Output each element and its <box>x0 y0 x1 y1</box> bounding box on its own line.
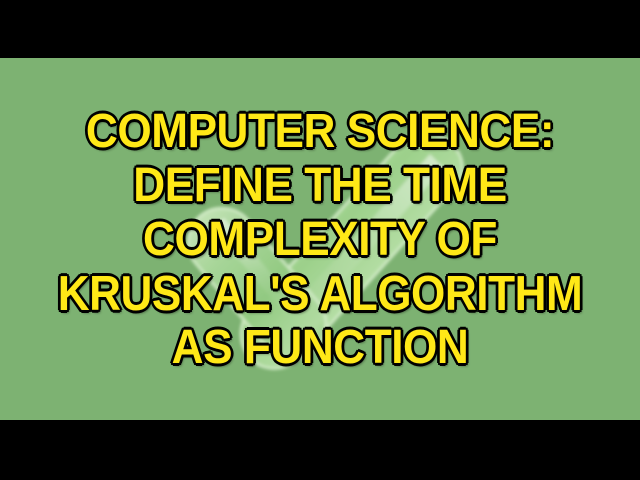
content-band: COMPUTER SCIENCE: DEFINE THE TIME COMPLE… <box>0 58 640 420</box>
headline-line-3: COMPLEXITY OF <box>26 213 615 267</box>
headline-line-4: KRUSKAL'S ALGORITHM <box>32 267 608 321</box>
letterbox-bar-bottom <box>0 420 640 480</box>
headline-line-2: DEFINE THE TIME <box>26 159 615 213</box>
letterbox-bar-top <box>0 0 640 58</box>
headline-block: COMPUTER SCIENCE: DEFINE THE TIME COMPLE… <box>0 58 640 420</box>
thumbnail-canvas: COMPUTER SCIENCE: DEFINE THE TIME COMPLE… <box>0 0 640 480</box>
headline-line-5: AS FUNCTION <box>26 321 615 375</box>
headline-line-1: COMPUTER SCIENCE: <box>26 105 615 159</box>
